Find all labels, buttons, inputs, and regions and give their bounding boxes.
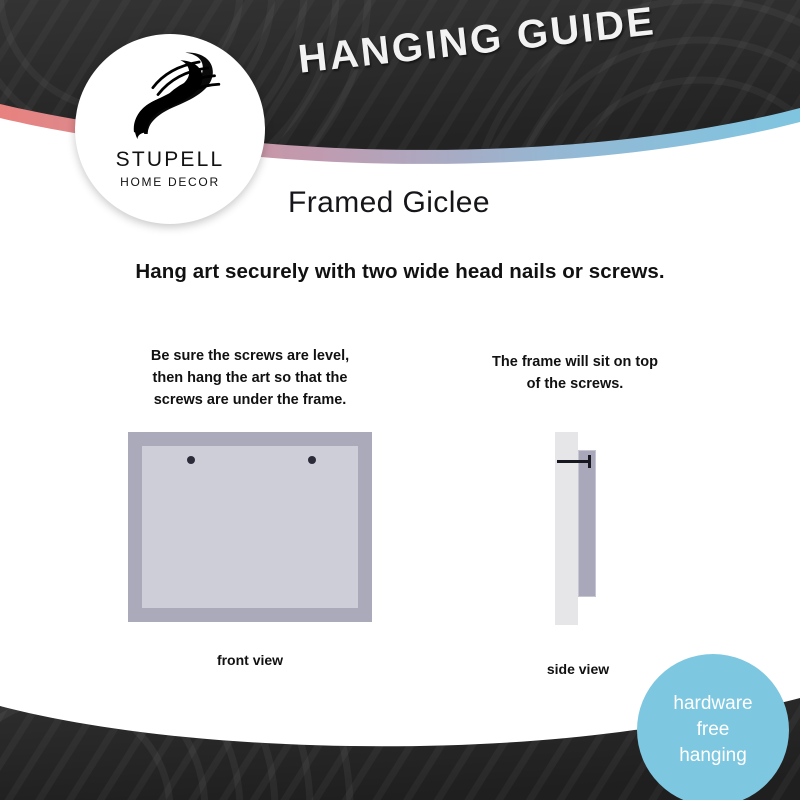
side-view-screw-shaft <box>557 460 590 463</box>
front-view-instruction-line-3: screws are under the frame. <box>128 390 372 412</box>
front-view-screw-dot-left <box>187 456 195 464</box>
side-view-instruction-line-1: The frame will sit on top <box>470 352 680 374</box>
front-view-instruction-line-1: Be sure the screws are level, <box>128 346 372 368</box>
hardware-free-badge-line-1: hardware <box>673 691 752 717</box>
brand-logo-badge: STUPELL HOME DECOR <box>75 34 265 224</box>
side-view-frame <box>578 450 596 597</box>
front-view-instruction: Be sure the screws are level, then hang … <box>128 346 372 411</box>
side-view-screw-head <box>588 455 591 468</box>
hardware-free-hanging-badge: hardware free hanging <box>637 654 789 800</box>
side-view-instruction: The frame will sit on top of the screws. <box>470 352 680 396</box>
brand-tagline: HOME DECOR <box>120 175 220 189</box>
front-view-screw-dot-right <box>308 456 316 464</box>
hardware-free-badge-line-2: free <box>697 717 730 743</box>
hardware-free-badge-line-3: hanging <box>679 743 747 769</box>
side-view-instruction-line-2: of the screws. <box>470 374 680 396</box>
lead-instruction: Hang art securely with two wide head nai… <box>0 260 800 284</box>
stupell-swoosh-icon <box>118 50 222 146</box>
front-view-instruction-line-2: then hang the art so that the <box>128 368 372 390</box>
hanging-guide-page: HANGING GUIDE STUPELL HOME DECOR Framed … <box>0 0 800 800</box>
front-view-frame-diagram <box>128 432 372 622</box>
brand-name: STUPELL <box>116 148 225 172</box>
front-view-frame-interior <box>142 446 358 608</box>
product-type-label: Framed Giclee <box>288 186 490 220</box>
